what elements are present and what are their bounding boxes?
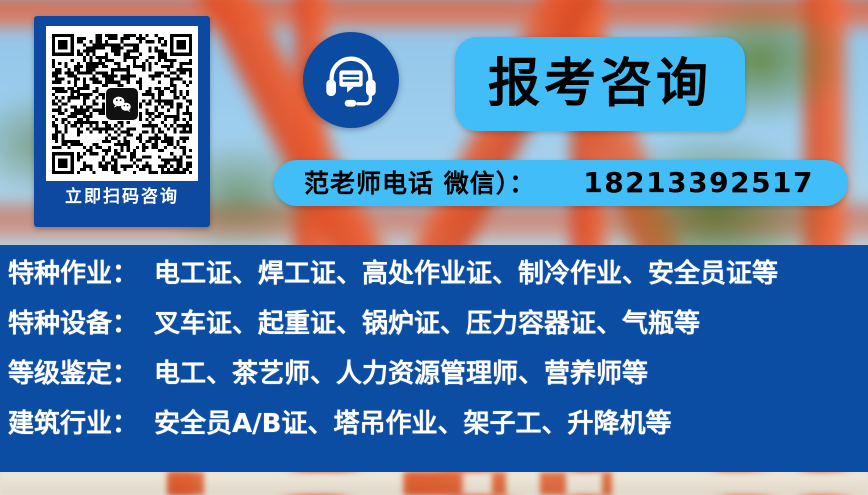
info-row-category: 特种设备： — [8, 311, 138, 337]
background-bottom-red-post-5 — [602, 472, 612, 495]
phone-number[interactable]: 18213392517 — [583, 169, 814, 197]
phone-pill[interactable]: 范老师电话 微信）： 18213392517 — [274, 160, 848, 206]
background-bottom-red-post-1 — [168, 472, 204, 495]
certification-list-panel: 特种作业： 电工证、焊工证、高处作业证、制冷作业、安全员证等 特种设备： 叉车证… — [0, 245, 868, 472]
qr-code-image[interactable] — [46, 26, 198, 181]
qr-card-caption: 立即扫码咨询 — [37, 188, 207, 205]
info-row-items: 安全员A/B证、塔吊作业、架子工、升降机等 — [154, 411, 671, 437]
background-bottom-red-post-3 — [492, 472, 506, 495]
promo-poster: 立即扫码咨询 报考咨询 范老师电话 微信）： 18213392517 特种作业：… — [0, 0, 868, 495]
wechat-icon — [106, 88, 138, 120]
info-row-category: 等级鉴定： — [8, 361, 138, 387]
phone-pill-label: 范老师电话 微信）： — [304, 171, 535, 196]
info-row-special-equipment: 特种设备： 叉车证、起重证、锅炉证、压力容器证、气瓶等 — [0, 311, 868, 361]
info-row-special-operations: 特种作业： 电工证、焊工证、高处作业证、制冷作业、安全员证等 — [0, 261, 868, 311]
info-row-items: 电工、茶艺师、人力资源管理师、营养师等 — [154, 361, 648, 387]
info-row-category: 建筑行业： — [8, 411, 138, 437]
background-bottom-red-post-2 — [404, 472, 462, 495]
info-row-items: 叉车证、起重证、锅炉证、压力容器证、气瓶等 — [154, 311, 700, 337]
title-pill-enrollment-consult[interactable]: 报考咨询 — [455, 37, 745, 131]
qr-code-card[interactable]: 立即扫码咨询 — [34, 16, 210, 227]
info-row-items: 电工证、焊工证、高处作业证、制冷作业、安全员证等 — [154, 261, 778, 287]
background-bottom-red-post-4 — [540, 472, 566, 495]
headset-support-icon[interactable] — [303, 32, 399, 128]
info-row-grade-assessment: 等级鉴定： 电工、茶艺师、人力资源管理师、营养师等 — [0, 361, 868, 411]
info-row-construction-industry: 建筑行业： 安全员A/B证、塔吊作业、架子工、升降机等 — [0, 411, 868, 461]
info-row-category: 特种作业： — [8, 261, 138, 287]
title-pill-label: 报考咨询 — [488, 58, 712, 110]
